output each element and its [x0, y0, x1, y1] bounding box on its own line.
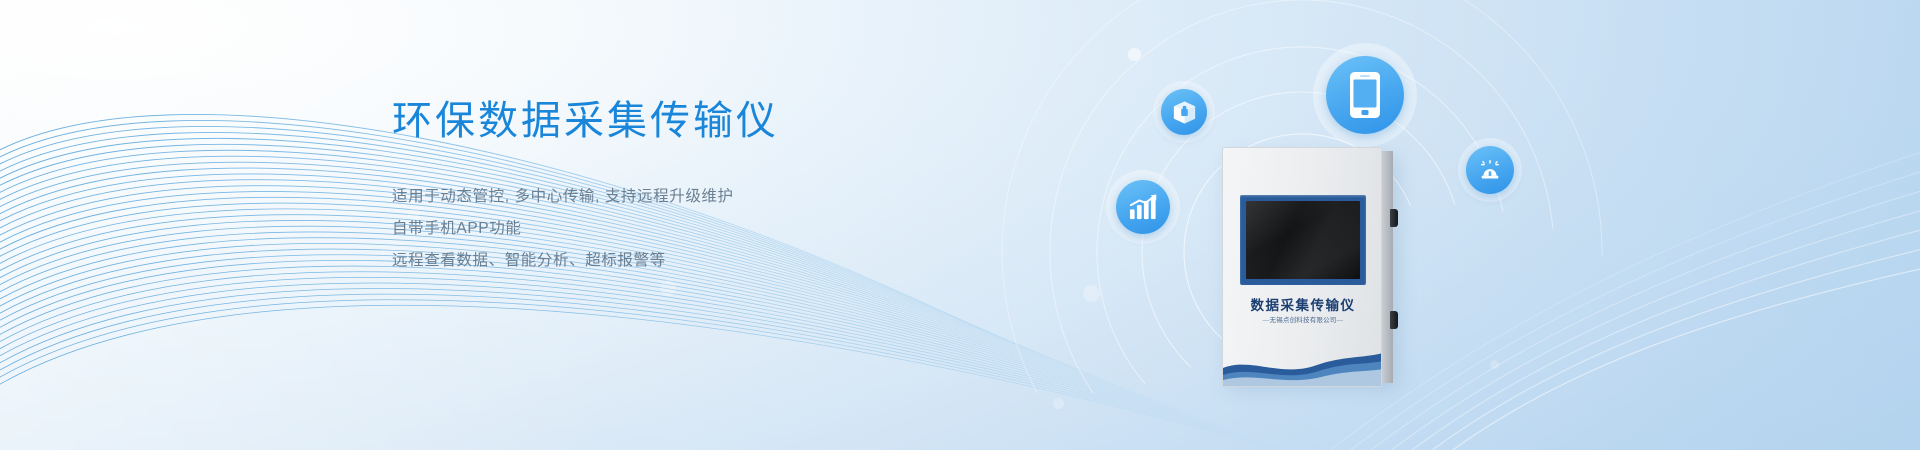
swoosh-curve [1450, 268, 1920, 450]
alarm-siren-icon [1477, 157, 1503, 183]
feature-bubble-mobile-app[interactable] [1313, 43, 1417, 147]
mobile-phone-icon [1348, 71, 1382, 119]
bubble-core [1326, 56, 1404, 134]
product-hero-banner: 环保数据采集传输仪 适用于动态管控, 多中心传输, 支持远程升级维护 自带手机A… [0, 0, 1920, 450]
cube-box-icon [1172, 100, 1197, 125]
page-title: 环保数据采集传输仪 [392, 96, 952, 146]
device-screen-bezel [1240, 195, 1366, 285]
swoosh-curve [1389, 209, 1920, 450]
feature-line: 自带手机APP功能 [392, 213, 952, 245]
bubble-core [1466, 146, 1514, 194]
device-brand-label: —无锡点创科技有限公司— [1223, 314, 1382, 324]
bottom-right-swoosh-decoration [0, 0, 1920, 450]
bar-chart-growth-icon [1128, 193, 1158, 221]
device-side-panel [1382, 151, 1393, 383]
hero-copy-block: 环保数据采集传输仪 适用于动态管控, 多中心传输, 支持远程升级维护 自带手机A… [392, 96, 952, 277]
decorative-dot [1083, 285, 1100, 302]
device-wave-graphic [1223, 338, 1382, 386]
device-latch [1390, 311, 1398, 329]
decorative-dot [1053, 398, 1064, 409]
swoosh-curve [1430, 248, 1920, 450]
device-front-panel: 数据采集传输仪 —无锡点创科技有限公司— [1222, 147, 1382, 387]
feature-line: 远程查看数据、智能分析、超标报警等 [392, 245, 952, 277]
decorative-dot [660, 280, 676, 296]
bubble-core [1161, 89, 1207, 135]
decorative-dot [1128, 48, 1141, 61]
feature-bubble-data-analysis[interactable] [1106, 170, 1180, 244]
device-latch [1390, 209, 1398, 227]
feature-line: 适用于动态管控, 多中心传输, 支持远程升级维护 [392, 181, 952, 213]
feature-description-list: 适用于动态管控, 多中心传输, 支持远程升级维护 自带手机APP功能 远程查看数… [392, 181, 952, 277]
feature-bubble-device-module[interactable] [1153, 81, 1215, 143]
bubble-core [1116, 180, 1170, 234]
device-model-label: 数据采集传输仪 [1223, 294, 1382, 314]
swoosh-curve [1409, 229, 1920, 450]
feature-bubble-overlimit-alarm[interactable] [1458, 138, 1522, 202]
device-screen [1246, 201, 1360, 279]
decorative-dot [1490, 360, 1499, 369]
product-device-image: 数据采集传输仪 —无锡点创科技有限公司— [1222, 147, 1400, 387]
